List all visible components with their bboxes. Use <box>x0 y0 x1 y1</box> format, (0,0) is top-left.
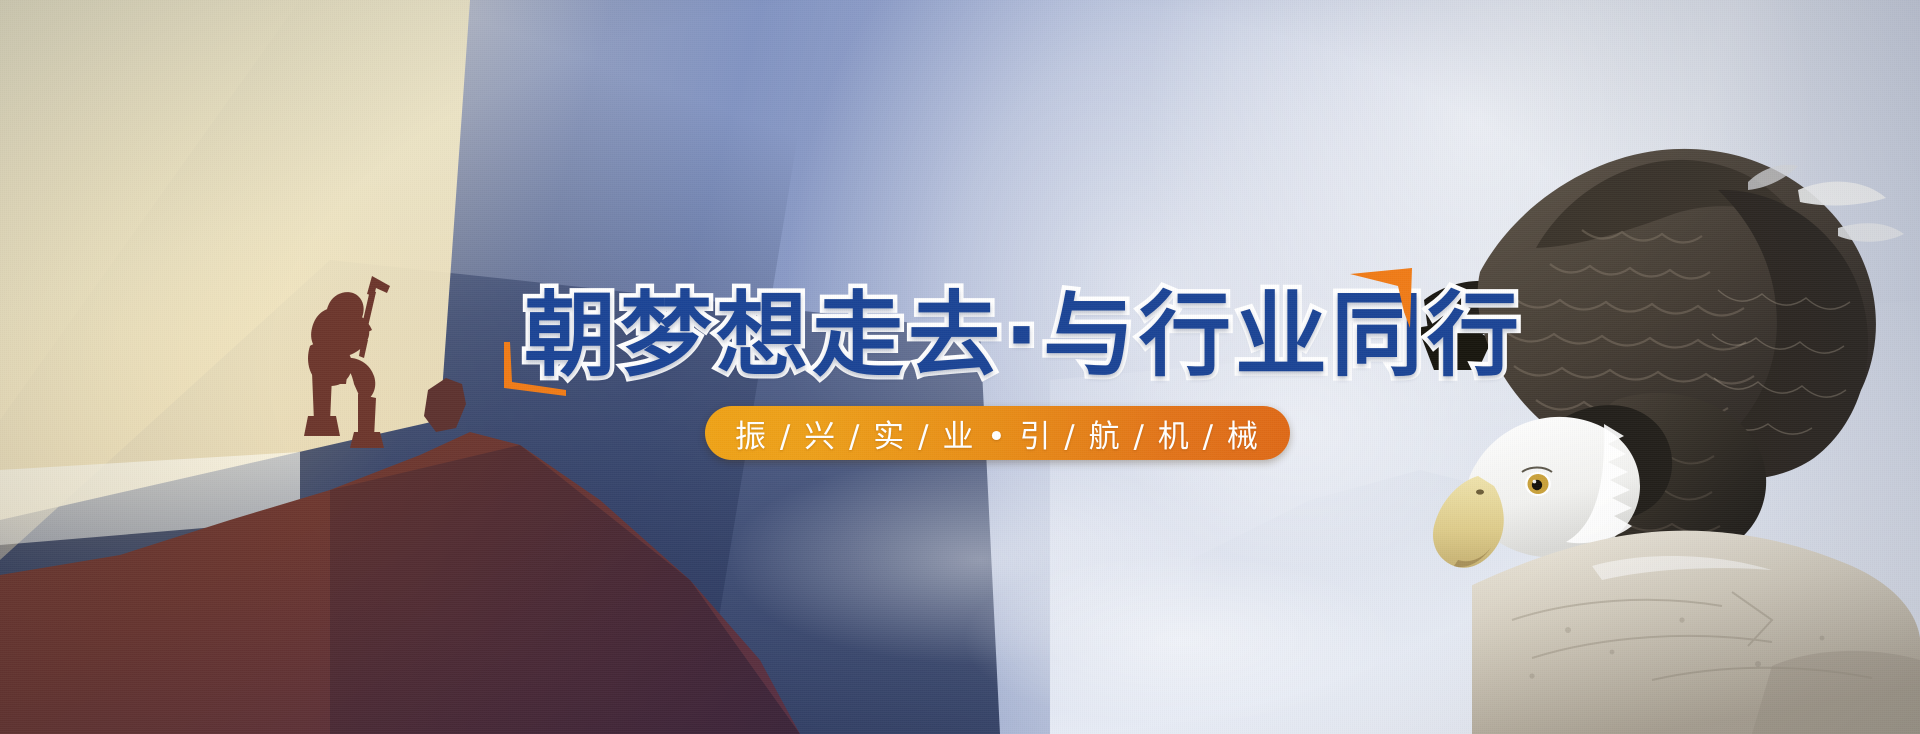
hero-banner: 朝梦想走去·与行业同行 振 / 兴 / 实 / 业 • 引 / 航 / 机 / … <box>0 0 1920 734</box>
film-grain-overlay <box>0 0 1920 734</box>
